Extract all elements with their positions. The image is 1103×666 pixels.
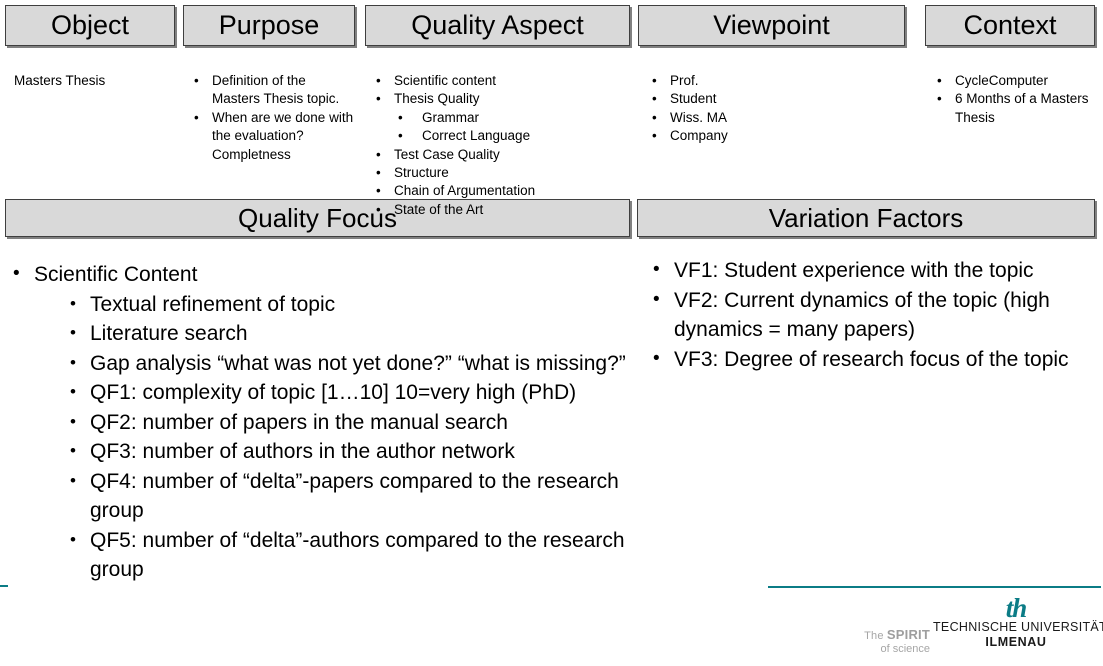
header-label-purpose: Purpose xyxy=(219,12,320,39)
bullet-icon: • xyxy=(653,255,660,285)
variation-factors-content: • VF1: Student experience with the topic… xyxy=(648,256,1088,374)
header-label-quality-aspect: Quality Aspect xyxy=(411,12,584,39)
quality-aspect-list: • Scientific content • Thesis Quality xyxy=(372,72,630,109)
list-item: • Literature search xyxy=(68,319,628,349)
list-item: • Company xyxy=(648,127,903,145)
list-item: • State of the Art xyxy=(372,201,630,219)
bullet-icon: • xyxy=(70,318,76,348)
list-item: • 6 Months of a Masters Thesis xyxy=(933,90,1095,127)
bullet-icon: • xyxy=(70,466,76,496)
list-item-label: Literature search xyxy=(90,322,248,345)
list-item-label: Textual refinement of topic xyxy=(90,293,335,316)
list-item-label: Grammar xyxy=(422,110,479,125)
list-item: • QF4: number of “delta”-papers compared… xyxy=(68,467,628,526)
list-item: • VF1: Student experience with the topic xyxy=(648,256,1088,286)
list-item: • VF3: Degree of research focus of the t… xyxy=(648,345,1088,375)
bullet-icon: • xyxy=(398,109,403,127)
list-item: • Test Case Quality xyxy=(372,146,630,164)
list-item-label: Prof. xyxy=(670,73,699,88)
thesis-quality-sublist: • Grammar • Correct Language xyxy=(394,109,630,146)
list-item-label: CycleComputer xyxy=(955,73,1048,88)
list-item-label: Student xyxy=(670,91,717,106)
bullet-icon: • xyxy=(937,90,942,108)
list-item-label: QF2: number of papers in the manual sear… xyxy=(90,411,508,434)
th-monogram-icon: th xyxy=(933,596,1099,620)
column-content-purpose: • Definition of the Masters Thesis topic… xyxy=(190,72,355,164)
variation-factors-list: • VF1: Student experience with the topic… xyxy=(648,256,1088,374)
list-item-label: Company xyxy=(670,128,728,143)
list-item-label: Gap analysis “what was not yet done?” “w… xyxy=(90,352,626,375)
header-box-variation-factors: Variation Factors xyxy=(637,199,1095,237)
list-item: • Correct Language xyxy=(394,127,630,145)
list-item: • QF1: complexity of topic [1…10] 10=ver… xyxy=(68,378,628,408)
list-item: • Definition of the Masters Thesis topic… xyxy=(190,72,355,109)
list-item: • Student xyxy=(648,90,903,108)
list-item-label: QF4: number of “delta”-papers compared t… xyxy=(90,470,619,523)
list-item: • VF2: Current dynamics of the topic (hi… xyxy=(648,286,1088,345)
list-item: • Grammar xyxy=(394,109,630,127)
bullet-icon: • xyxy=(937,72,942,90)
bullet-icon: • xyxy=(376,164,381,182)
list-item-label: When are we done with the evaluation? Co… xyxy=(212,110,353,162)
list-item-label: Definition of the Masters Thesis topic. xyxy=(212,73,339,106)
purpose-list: • Definition of the Masters Thesis topic… xyxy=(190,72,355,164)
list-item: • Gap analysis “what was not yet done?” … xyxy=(68,349,628,379)
header-label-object: Object xyxy=(51,12,129,39)
left-edge-tick-mark xyxy=(0,585,8,587)
list-item: • Chain of Argumentation xyxy=(372,182,630,200)
list-item: • When are we done with the evaluation? … xyxy=(190,109,355,164)
list-item-label: QF5: number of “delta”-authors compared … xyxy=(90,529,625,582)
bullet-icon: • xyxy=(376,90,381,108)
list-item-label: Wiss. MA xyxy=(670,110,727,125)
tu-ilmenau-logo: th TECHNISCHE UNIVERSITÄT ILMENAU xyxy=(933,596,1099,650)
header-box-viewpoint: Viewpoint xyxy=(638,5,905,46)
bullet-icon: • xyxy=(653,285,660,315)
header-box-context: Context xyxy=(925,5,1095,46)
list-item: • QF5: number of “delta”-authors compare… xyxy=(68,526,628,585)
university-name-line-1: TECHNISCHE UNIVERSITÄT xyxy=(933,620,1099,635)
list-item: • CycleComputer xyxy=(933,72,1095,90)
spirit-the-label: The xyxy=(864,630,887,642)
list-item-label: VF3: Degree of research focus of the top… xyxy=(674,348,1069,371)
column-content-context: • CycleComputer • 6 Months of a Masters … xyxy=(933,72,1095,127)
bullet-icon: • xyxy=(70,348,76,378)
bullet-icon: • xyxy=(398,127,403,145)
bullet-icon: • xyxy=(70,289,76,319)
list-item-label: Scientific content xyxy=(394,73,496,88)
bullet-icon: • xyxy=(70,407,76,437)
spirit-line-1: The SPIRIT xyxy=(838,628,930,643)
spirit-of-science-logo: The SPIRIT of science xyxy=(838,628,930,656)
bullet-icon: • xyxy=(652,72,657,90)
list-item-label: VF2: Current dynamics of the topic (high… xyxy=(674,289,1050,342)
header-box-purpose: Purpose xyxy=(183,5,355,46)
list-item: • Scientific content xyxy=(372,72,630,90)
bullet-icon: • xyxy=(376,72,381,90)
list-item: • Prof. xyxy=(648,72,903,90)
header-box-quality-aspect: Quality Aspect xyxy=(365,5,630,46)
list-item-label: 6 Months of a Masters Thesis xyxy=(955,91,1089,124)
footer-divider-rule xyxy=(768,586,1101,588)
university-name-line-2: ILMENAU xyxy=(933,635,1099,650)
header-label-variation-factors: Variation Factors xyxy=(769,205,964,231)
quality-focus-content: • Scientific Content • Textual refinemen… xyxy=(8,260,628,585)
column-content-quality-aspect: • Scientific content • Thesis Quality • … xyxy=(372,72,630,219)
list-item-label: Scientific Content xyxy=(34,263,197,286)
bullet-icon: • xyxy=(70,377,76,407)
quality-aspect-list-continued: • Test Case Quality • Structure • Chain … xyxy=(372,146,630,220)
bullet-icon: • xyxy=(376,201,381,219)
list-item: • QF2: number of papers in the manual se… xyxy=(68,408,628,438)
bullet-icon: • xyxy=(376,146,381,164)
header-label-context: Context xyxy=(963,12,1056,39)
list-item-label: Structure xyxy=(394,165,449,180)
list-item: • Textual refinement of topic xyxy=(68,290,628,320)
quality-focus-sublist: • Textual refinement of topic • Literatu… xyxy=(68,290,628,585)
viewpoint-list: • Prof. • Student • Wiss. MA • Company xyxy=(648,72,903,146)
bullet-icon: • xyxy=(652,109,657,127)
list-item-label: QF1: complexity of topic [1…10] 10=very … xyxy=(90,381,576,404)
quality-focus-list: • Scientific Content xyxy=(8,260,628,290)
list-item: • Thesis Quality xyxy=(372,90,630,108)
bullet-icon: • xyxy=(70,436,76,466)
list-item-label: QF3: number of authors in the author net… xyxy=(90,440,515,463)
bullet-icon: • xyxy=(194,109,199,127)
list-item: • Wiss. MA xyxy=(648,109,903,127)
list-item: • Scientific Content xyxy=(8,260,628,290)
list-item-label: VF1: Student experience with the topic xyxy=(674,259,1034,282)
bullet-icon: • xyxy=(376,182,381,200)
list-item-label: Correct Language xyxy=(422,128,530,143)
context-list: • CycleComputer • 6 Months of a Masters … xyxy=(933,72,1095,127)
spirit-strong-label: SPIRIT xyxy=(887,627,930,642)
spirit-line-2: of science xyxy=(838,643,930,656)
list-item-label: Chain of Argumentation xyxy=(394,183,535,198)
column-content-viewpoint: • Prof. • Student • Wiss. MA • Company xyxy=(648,72,903,146)
bullet-icon: • xyxy=(652,127,657,145)
list-item-label: State of the Art xyxy=(394,202,483,217)
list-item: • QF3: number of authors in the author n… xyxy=(68,437,628,467)
bullet-icon: • xyxy=(653,344,660,374)
header-label-viewpoint: Viewpoint xyxy=(713,12,830,39)
list-item-label: Thesis Quality xyxy=(394,91,480,106)
list-item: • Structure xyxy=(372,164,630,182)
header-box-object: Object xyxy=(5,5,175,46)
bullet-icon: • xyxy=(70,525,76,555)
object-value: Masters Thesis xyxy=(14,72,174,90)
bullet-icon: • xyxy=(194,72,199,90)
bullet-icon: • xyxy=(652,90,657,108)
bullet-icon: • xyxy=(13,259,20,289)
list-item-label: Test Case Quality xyxy=(394,147,500,162)
column-content-object: Masters Thesis xyxy=(14,72,174,90)
